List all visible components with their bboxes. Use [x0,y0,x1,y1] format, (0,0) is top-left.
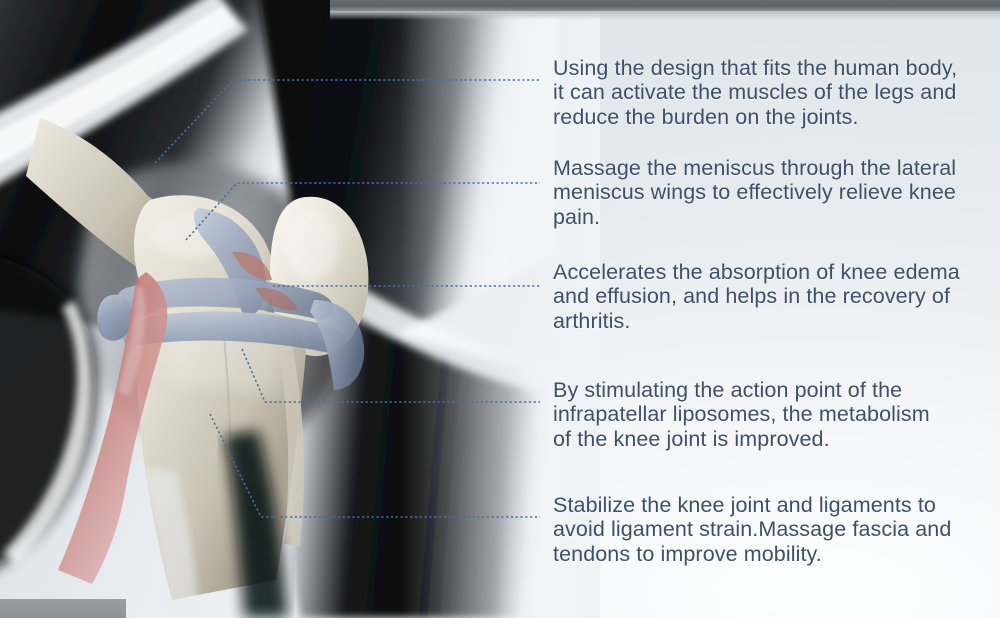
benefits-list: Using the design that fits the human bod… [553,0,993,618]
infographic-canvas: Using the design that fits the human bod… [0,0,1000,618]
bottom-left-gray-band [0,599,126,618]
benefit-text-2: Massage the meniscus through the lateral… [553,156,985,229]
top-gray-band [330,0,1000,11]
benefit-text-3: Accelerates the absorption of knee edema… [553,260,985,333]
benefit-text-4: By stimulating the action point of the i… [553,378,985,451]
anatomy-illustration [0,0,560,618]
joint-glow [74,186,374,406]
benefit-text-5: Stabilize the knee joint and ligaments t… [553,493,985,566]
top-band-fade [330,11,1000,20]
benefit-text-1: Using the design that fits the human bod… [553,56,985,129]
